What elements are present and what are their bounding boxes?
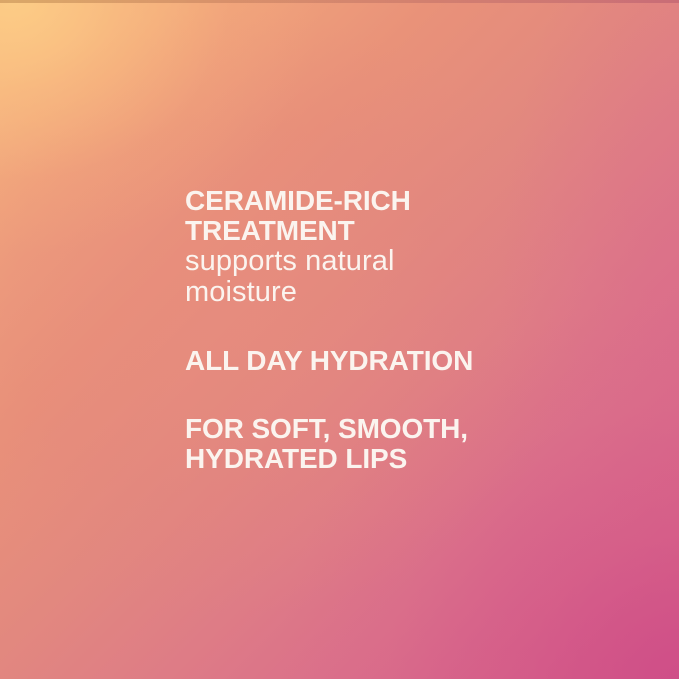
benefit-copy-group: CERAMIDE-RICH TREATMENT supports natural… (185, 186, 515, 474)
ceramide-headline-line-1: CERAMIDE-RICH (185, 186, 515, 216)
benefit-block-hydration: ALL DAY HYDRATION (185, 346, 515, 376)
hydration-headline: ALL DAY HYDRATION (185, 346, 515, 376)
ceramide-subtext-line-1: supports natural (185, 246, 515, 277)
product-benefit-card: CERAMIDE-RICH TREATMENT supports natural… (0, 0, 679, 679)
top-edge-rule (0, 0, 679, 3)
lips-headline-line-2: HYDRATED LIPS (185, 444, 515, 474)
benefit-block-ceramide: CERAMIDE-RICH TREATMENT supports natural… (185, 186, 515, 308)
ceramide-headline-line-2: TREATMENT (185, 216, 515, 246)
ceramide-subtext-line-2: moisture (185, 277, 515, 308)
benefit-block-lips: FOR SOFT, SMOOTH, HYDRATED LIPS (185, 414, 515, 474)
lips-headline-line-1: FOR SOFT, SMOOTH, (185, 414, 515, 444)
